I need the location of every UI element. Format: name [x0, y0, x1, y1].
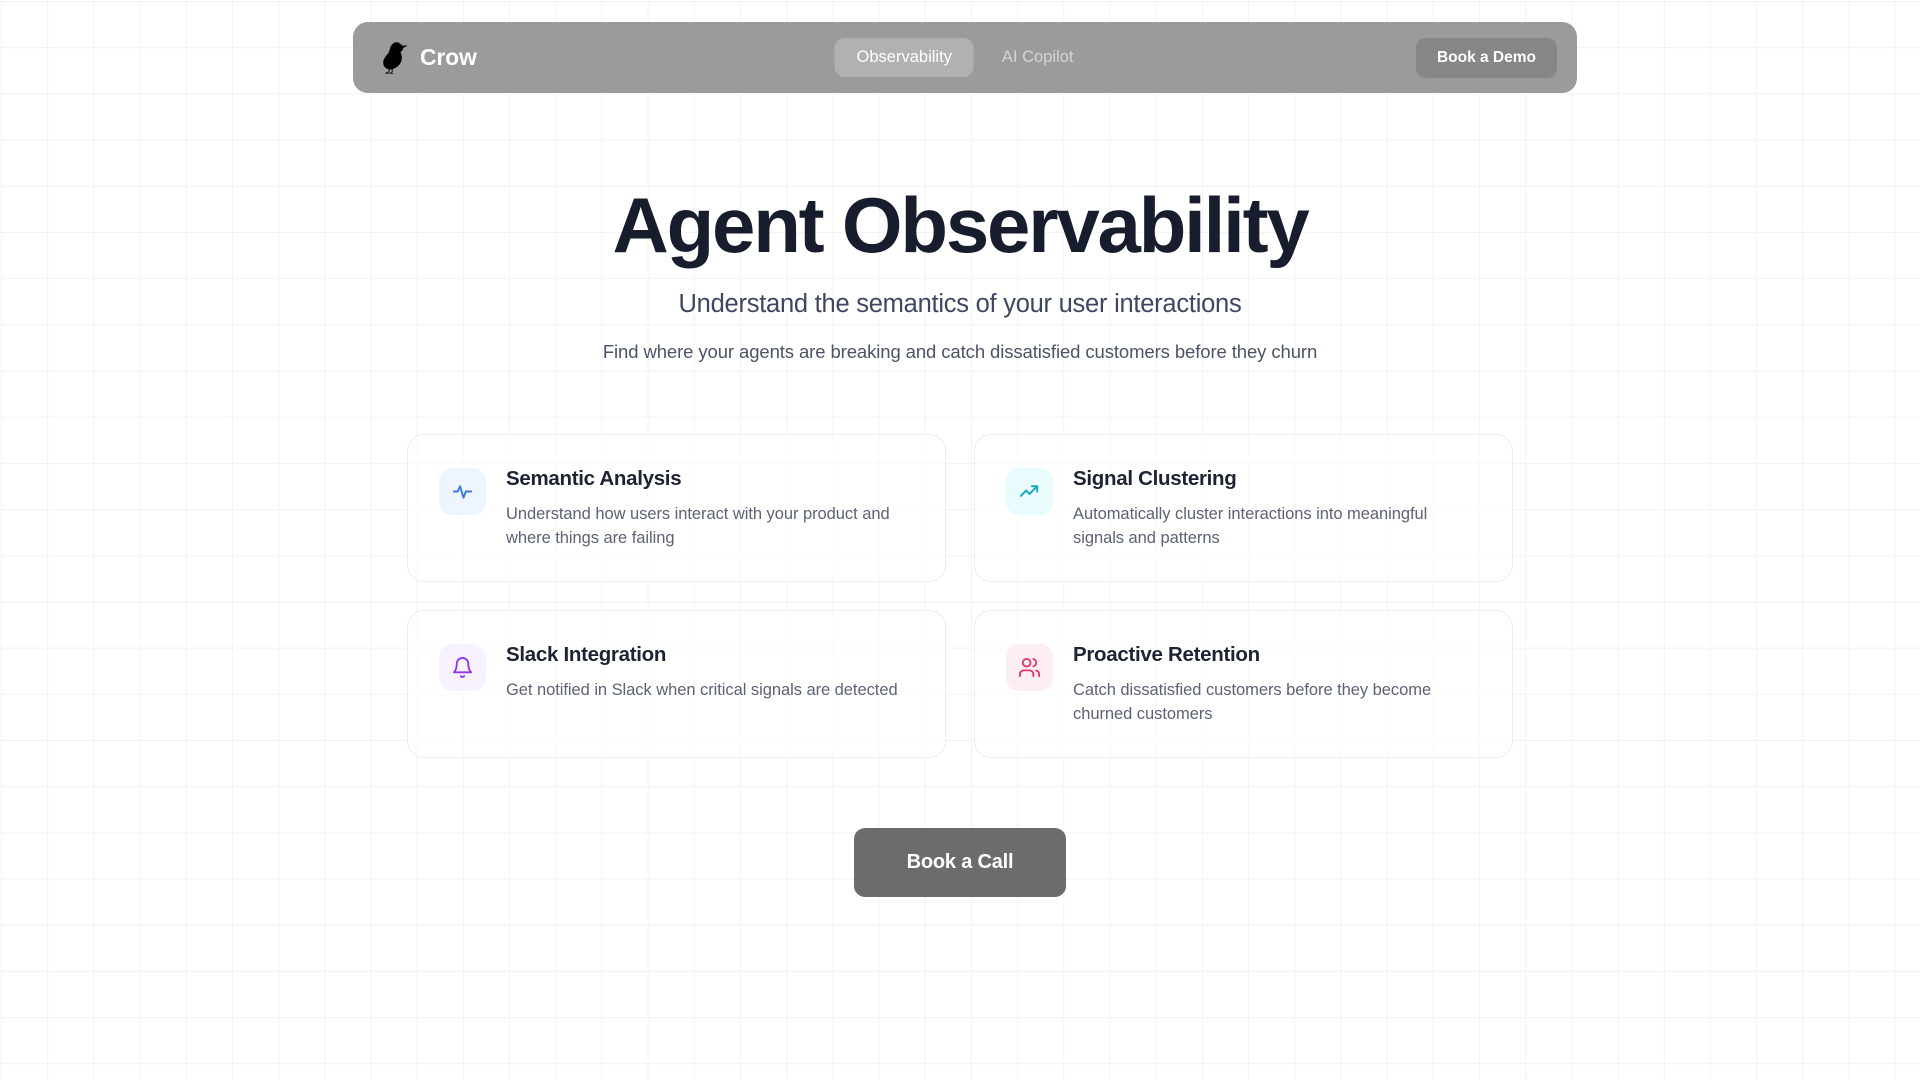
cta-section: Book a Call [0, 828, 1920, 897]
tab-observability[interactable]: Observability [835, 38, 974, 77]
crow-icon [379, 41, 407, 75]
bell-icon [439, 644, 486, 691]
brand-logo[interactable]: Crow [379, 41, 477, 75]
feature-title: Proactive Retention [1073, 643, 1473, 667]
page-title: Agent Observability [0, 185, 1920, 266]
feature-description: Get notified in Slack when critical sign… [506, 679, 898, 703]
trending-up-icon [1006, 468, 1053, 515]
feature-cards-grid: Semantic Analysis Understand how users i… [407, 434, 1513, 758]
book-a-demo-button[interactable]: Book a Demo [1416, 38, 1557, 78]
top-navbar: Crow Observability AI Copilot Book a Dem… [353, 22, 1577, 93]
book-a-call-button[interactable]: Book a Call [854, 828, 1067, 897]
feature-title: Semantic Analysis [506, 467, 906, 491]
hero-tagline: Find where your agents are breaking and … [0, 341, 1920, 363]
brand-name: Crow [420, 44, 477, 71]
feature-title: Slack Integration [506, 643, 898, 667]
feature-description: Catch dissatisfied customers before they… [1073, 679, 1473, 726]
feature-card-slack-integration[interactable]: Slack Integration Get notified in Slack … [407, 610, 946, 758]
feature-title: Signal Clustering [1073, 467, 1473, 491]
users-icon [1006, 644, 1053, 691]
activity-pulse-icon [439, 468, 486, 515]
nav-tabs: Observability AI Copilot [835, 38, 1096, 77]
tab-ai-copilot[interactable]: AI Copilot [980, 38, 1096, 77]
feature-description: Understand how users interact with your … [506, 503, 906, 550]
feature-description: Automatically cluster interactions into … [1073, 503, 1473, 550]
hero-section: Agent Observability Understand the seman… [0, 185, 1920, 363]
feature-card-semantic-analysis[interactable]: Semantic Analysis Understand how users i… [407, 434, 946, 582]
feature-card-proactive-retention[interactable]: Proactive Retention Catch dissatisfied c… [974, 610, 1513, 758]
hero-subtitle: Understand the semantics of your user in… [0, 290, 1920, 319]
feature-card-signal-clustering[interactable]: Signal Clustering Automatically cluster … [974, 434, 1513, 582]
